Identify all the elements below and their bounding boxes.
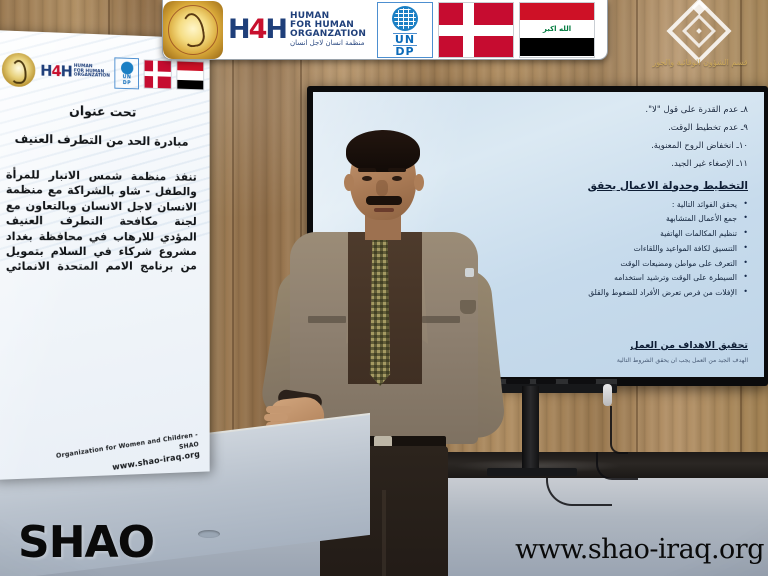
cable [596, 452, 638, 480]
presenter-hair [346, 130, 420, 172]
jacket-pocket [308, 316, 346, 323]
wall-emblem-caption: قسم الشؤون الوقائية والجور [636, 58, 764, 67]
h4h-mark: H4H [228, 16, 286, 43]
undp-dp-text: DP [123, 81, 131, 86]
header-logo-bar: H4H HUMAN FOR HUMAN ORGANZATION منظمة ان… [162, 0, 608, 60]
undp-globe-icon [392, 6, 418, 31]
presenter-mouth [374, 208, 394, 212]
h4h-logo: H4H HUMAN FOR HUMAN ORGANZATION [40, 63, 110, 80]
banner-title: مبادرة الحد من التطرف العنيف [6, 131, 197, 149]
iraq-flag-icon [177, 61, 205, 91]
presenter-eyebrow [358, 168, 376, 172]
presenter-ear [344, 174, 354, 191]
pocket-square [460, 300, 476, 314]
denmark-flag-icon [144, 59, 172, 89]
table-cable-grommet [198, 530, 220, 538]
remote-control[interactable] [568, 379, 596, 384]
slide-subline: الهدف الجيد من العمل يجب ان يحقق الشروط … [617, 357, 748, 364]
remote-control[interactable] [536, 379, 556, 384]
h4h-line-3: ORGANZATION [74, 74, 110, 80]
iraq-flag-takbir-text: الله اكبر [520, 25, 594, 33]
h4h-wordmark: HUMAN FOR HUMAN ORGANZATION [74, 65, 110, 80]
banner-footer: Organization for Women and Children - SH… [41, 430, 201, 480]
presenter-moustache [366, 196, 402, 205]
undp-wordmark: UN DP [393, 33, 417, 57]
presenter-ear [414, 174, 424, 191]
undp-globe-icon [121, 61, 133, 74]
h4h-arabic-line: منظمة انسان لاجل انسان [290, 39, 366, 47]
undp-un-text: UN [123, 75, 132, 80]
h4h-logo: H4H HUMAN FOR HUMAN ORGANZATION منظمة ان… [223, 12, 373, 48]
presenter-eye [392, 176, 402, 181]
banner-paragraph: تنفذ منظمة شمس الانبار للمرأة والطفل - ش… [6, 167, 197, 275]
shao-logo-icon [163, 1, 223, 59]
photo-frame: قسم الشؤون الوقائية والجور ٨ـ عدم القدرة… [0, 0, 768, 576]
trouser-leg-split [382, 490, 386, 576]
tv-stand-shelf [497, 384, 617, 393]
watermark-brand: SHAO [18, 521, 154, 565]
presenter-finger [264, 414, 288, 421]
h4h-mark: H4H [40, 63, 72, 79]
slide-numbered-item: ٨ـ عدم القدرة على قول "لا". [329, 106, 748, 115]
undp-logo: UN DP [377, 2, 433, 58]
h4h-wordmark: HUMAN FOR HUMAN ORGANZATION منظمة انسان … [290, 12, 366, 48]
jacket-pocket [422, 316, 460, 323]
cable [610, 406, 628, 454]
shao-logo-icon [2, 52, 35, 87]
tv-stand-column [522, 386, 539, 472]
banner-text-block: تحت عنوان مبادرة الحد من التطرف العنيف ت… [6, 102, 197, 274]
slide-secondary-heading: تحقيق الاهداف من العمل [630, 340, 748, 351]
shao-glyph-icon [180, 11, 207, 48]
microphone[interactable] [603, 384, 612, 406]
undp-un-text: UN [393, 33, 417, 45]
banner-kicker: تحت عنوان [6, 102, 197, 122]
presenter-nose [376, 180, 388, 196]
h4h-line-3: ORGANZATION [290, 30, 366, 39]
presenter-eye [362, 176, 372, 181]
lapel-pin-icon [465, 268, 474, 277]
iraq-flag-icon: الله اكبر [519, 2, 595, 58]
watermark-url: www.shao-iraq.org [515, 536, 764, 563]
rollup-banner: H4H HUMAN FOR HUMAN ORGANZATION UN DP تح… [0, 30, 210, 480]
undp-dp-text: DP [393, 45, 416, 57]
presenter-eyebrow [388, 168, 406, 172]
wall-panel-seam [232, 0, 234, 470]
denmark-flag-icon [438, 2, 514, 58]
undp-logo: UN DP [115, 57, 140, 89]
remote-control[interactable] [506, 379, 530, 384]
presenter-finger [266, 406, 292, 413]
